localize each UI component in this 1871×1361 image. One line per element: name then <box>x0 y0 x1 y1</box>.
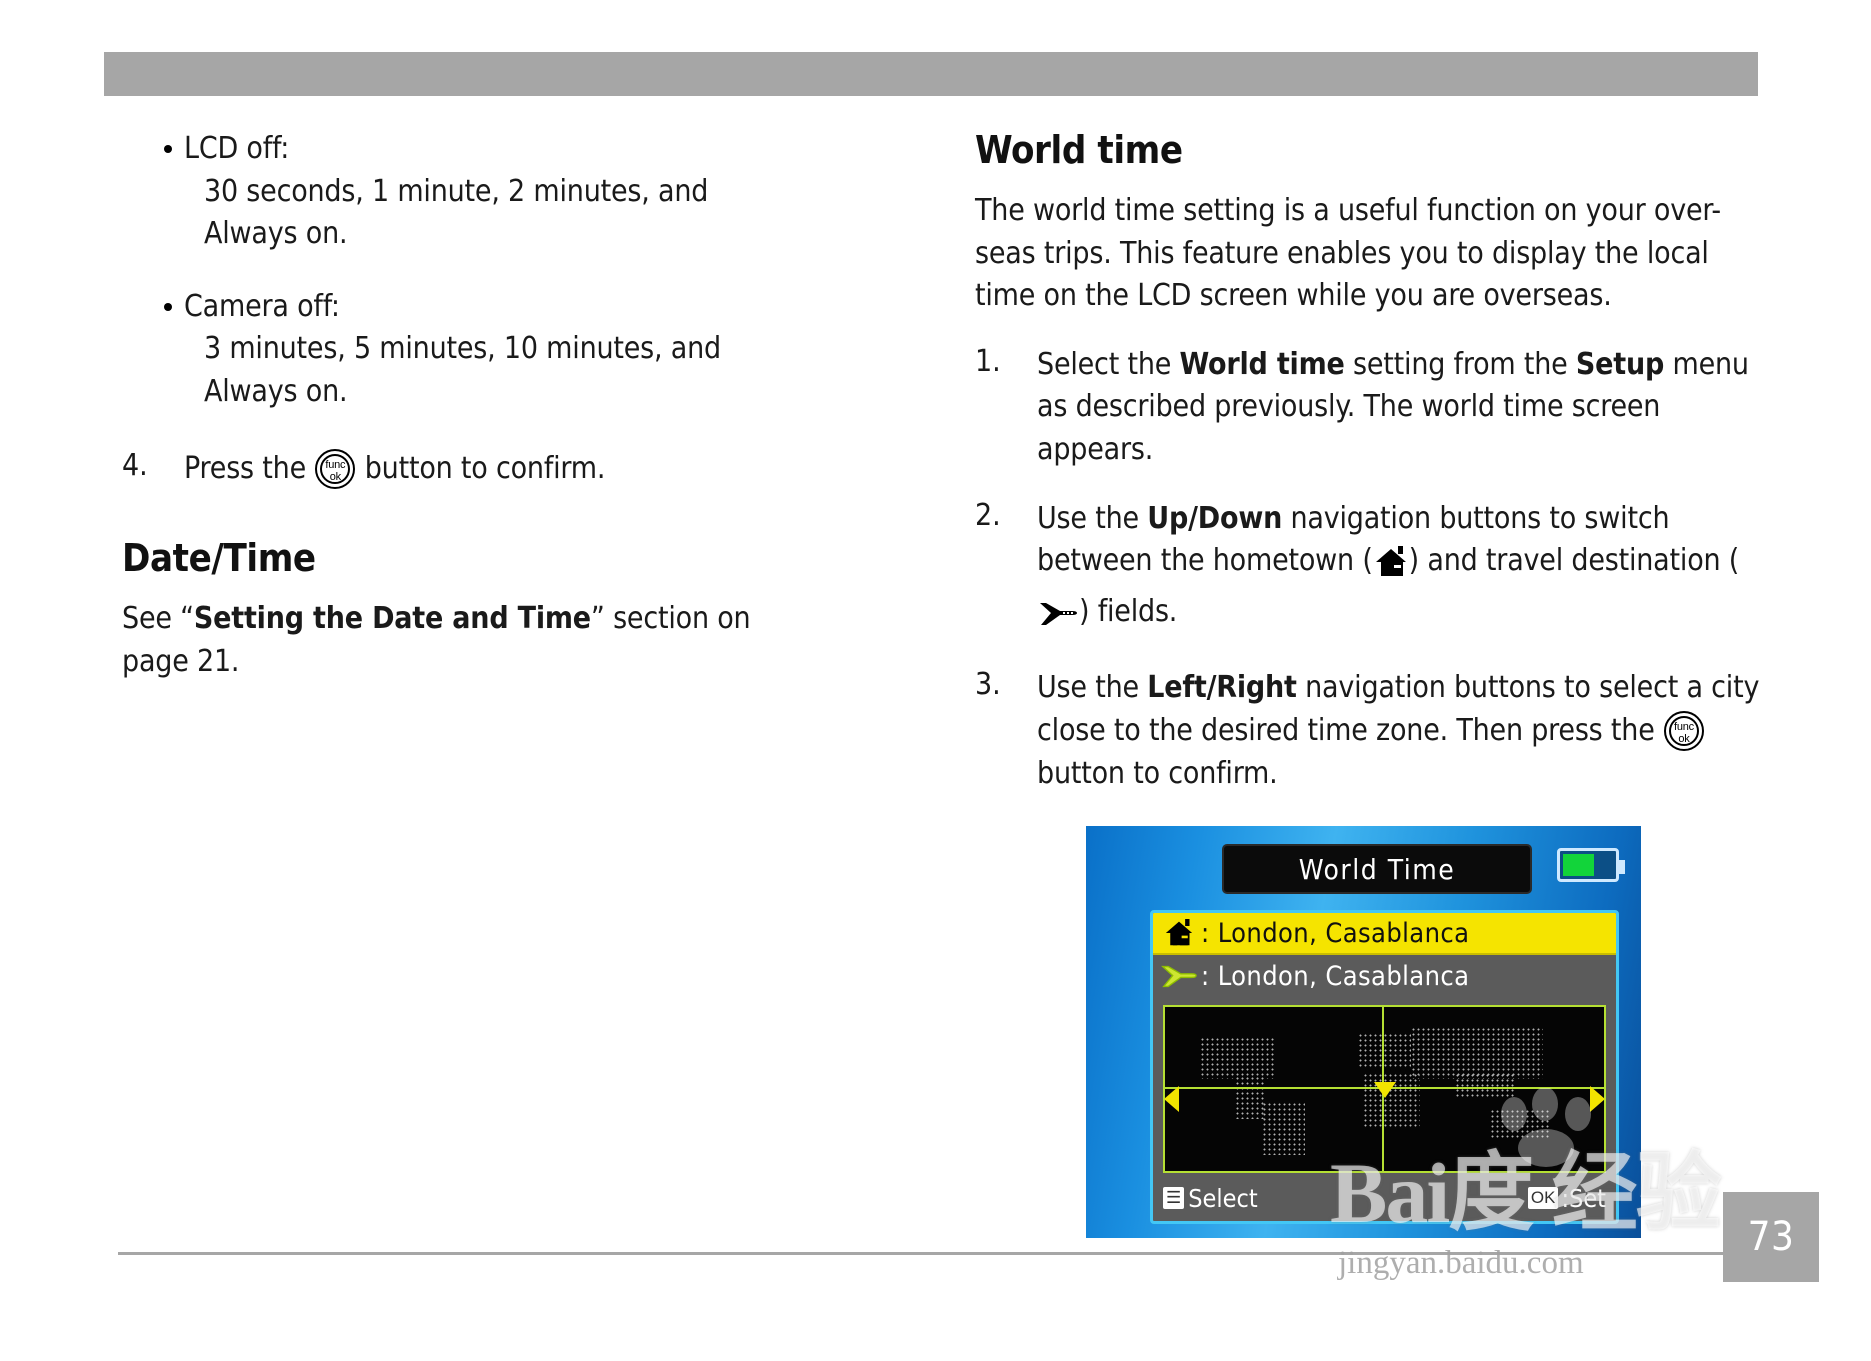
lcd-destination-city: London, Casablanca <box>1218 961 1470 992</box>
step-emphasis-world-time: World time <box>1180 347 1345 382</box>
step-text-fragment: button to confirm. <box>1037 756 1278 791</box>
list-item: LCD off: 30 seconds, 1 minute, 2 minutes… <box>122 128 782 256</box>
page-header-bar <box>104 52 1758 96</box>
lcd-hometown-city: London, Casablanca <box>1218 918 1470 949</box>
step-text: Use the Up/Down navigation buttons to sw… <box>1037 498 1775 642</box>
numbered-step-3: 3. Use the Left/Right navigation buttons… <box>975 667 1775 795</box>
house-icon <box>1374 546 1408 591</box>
ok-key-icon: OK <box>1528 1187 1559 1209</box>
step-emphasis-setup: Setup <box>1576 347 1664 382</box>
list-item: Camera off: 3 minutes, 5 minutes, 10 min… <box>122 286 782 414</box>
ok-label: :Set <box>1561 1184 1606 1213</box>
lcd-title: World Time <box>1299 853 1456 886</box>
select-hint: ☰Select <box>1163 1184 1258 1213</box>
numbered-step-1: 1. Select the World time setting from th… <box>975 344 1775 472</box>
step-marker: 4. <box>122 448 148 483</box>
step-text: Select the World time setting from the S… <box>1037 344 1775 472</box>
see-bold-title: Setting the Date and Time <box>194 601 591 636</box>
step-text-fragment: Use the <box>1037 501 1147 536</box>
func-ok-top-label: func <box>1666 722 1702 733</box>
step-text-fragment: Use the <box>1037 670 1147 705</box>
step-text-after: button to confirm. <box>356 451 605 486</box>
func-ok-button-icon: funcok <box>315 449 355 489</box>
select-key-icon: ☰ <box>1163 1187 1184 1209</box>
see-prefix: See “ <box>122 601 194 636</box>
func-ok-button-icon: funcok <box>1664 711 1704 751</box>
select-label: Select <box>1188 1184 1257 1213</box>
step-text-fragment: ) fields. <box>1079 594 1177 629</box>
ok-hint: OK:Set <box>1528 1184 1606 1213</box>
bullet-label: Camera off: <box>184 286 782 329</box>
step-marker: 2. <box>975 498 1001 533</box>
numbered-step-4: 4. Press the funcok button to confirm. <box>122 448 782 491</box>
map-left-arrow-icon[interactable] <box>1164 1086 1179 1112</box>
left-column: LCD off: 30 seconds, 1 minute, 2 minutes… <box>122 128 782 683</box>
world-map-display[interactable] <box>1163 1005 1606 1173</box>
step-text: Press the funcok button to confirm. <box>184 448 782 491</box>
right-column: World time The world time setting is a u… <box>975 128 1775 821</box>
battery-icon <box>1557 848 1619 882</box>
lcd-menu-panel: : London, Casablanca : London, Casablanc… <box>1150 910 1619 1224</box>
step-text-fragment: setting from the <box>1345 347 1576 382</box>
lcd-row-separator: : <box>1201 918 1210 949</box>
func-ok-bottom-label: ok <box>1666 734 1702 745</box>
bullet-dot-icon <box>164 145 172 153</box>
map-cursor-marker <box>1374 1082 1396 1098</box>
map-right-arrow-icon[interactable] <box>1590 1086 1605 1112</box>
step-text-before: Press the <box>184 451 314 486</box>
airplane-icon <box>1159 963 1199 990</box>
bullet-dot-icon <box>164 303 172 311</box>
house-icon <box>1159 919 1199 947</box>
step-emphasis-left-right: Left/Right <box>1147 670 1296 705</box>
airplane-icon <box>1038 599 1078 642</box>
bullet-label: LCD off: <box>184 128 782 171</box>
camera-lcd-screenshot: World Time : London, Casablanca : London… <box>1086 826 1641 1238</box>
func-ok-top-label: func <box>317 460 353 471</box>
numbered-step-2: 2. Use the Up/Down navigation buttons to… <box>975 498 1775 642</box>
func-ok-bottom-label: ok <box>317 472 353 483</box>
step-emphasis-up-down: Up/Down <box>1147 501 1282 536</box>
step-text-fragment: Select the <box>1037 347 1180 382</box>
page-footer-rule <box>118 1252 1758 1255</box>
section-heading-date-time: Date/Time <box>122 536 782 580</box>
lcd-title-bar: World Time <box>1222 844 1532 894</box>
lcd-row-separator: : <box>1201 961 1210 992</box>
bullet-detail: 30 seconds, 1 minute, 2 minutes, and Alw… <box>184 171 782 256</box>
step-text-fragment: ) and travel destination ( <box>1409 543 1739 578</box>
lcd-row-hometown[interactable]: : London, Casablanca <box>1153 913 1616 955</box>
step-text: Use the Left/Right navigation buttons to… <box>1037 667 1775 795</box>
world-time-intro-paragraph: The world time setting is a useful funct… <box>975 190 1775 318</box>
bullet-detail: 3 minutes, 5 minutes, 10 minutes, and Al… <box>184 328 782 413</box>
date-time-reference: See “Setting the Date and Time” section … <box>122 598 782 683</box>
lcd-footer-hints: ☰Select OK:Set <box>1153 1175 1616 1221</box>
baidu-watermark-url: jingyan.baidu.com <box>1338 1245 1584 1282</box>
step-marker: 3. <box>975 667 1001 702</box>
section-heading-world-time: World time <box>975 128 1775 172</box>
lcd-row-destination[interactable]: : London, Casablanca <box>1153 955 1616 997</box>
page-number: 73 <box>1723 1192 1819 1282</box>
step-marker: 1. <box>975 344 1001 379</box>
